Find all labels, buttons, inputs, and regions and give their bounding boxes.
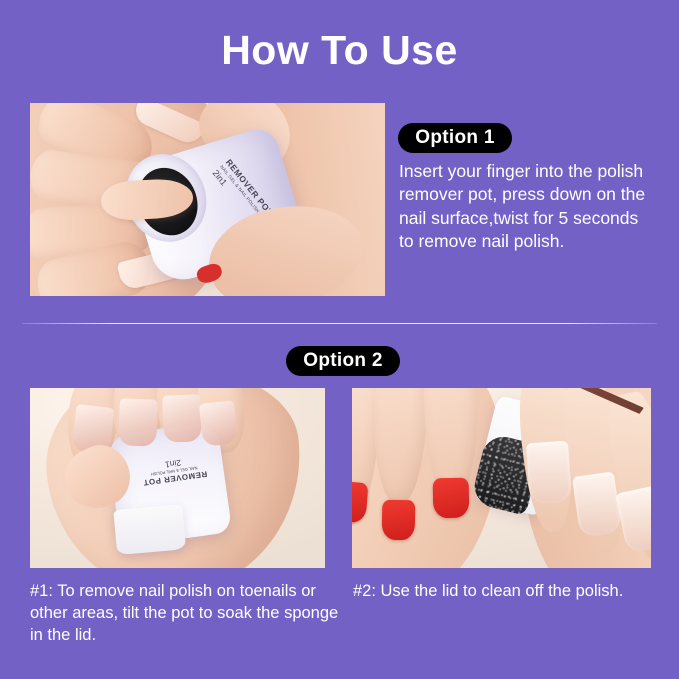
nail — [526, 441, 572, 505]
caption-step-1: #1: To remove nail polish on toenails or… — [30, 580, 340, 646]
nail — [572, 472, 622, 538]
photo-insert-finger: REMOVER POT NAIL GEL & NAIL POLISH 2in1 — [30, 103, 385, 296]
how-to-use-infographic: How To Use REMOVER POT NAIL GEL & NAIL P… — [0, 0, 679, 679]
nail — [162, 395, 202, 443]
nail — [199, 401, 239, 448]
option-1-instructions: Insert your finger into the polish remov… — [399, 160, 654, 253]
photo-clean-with-lid — [352, 388, 651, 568]
section-divider — [22, 323, 657, 324]
photo-bottom-right-scene — [352, 388, 651, 568]
red-painted-nail — [382, 499, 416, 539]
red-painted-nail — [432, 478, 469, 518]
photo-tilt-pot: REMOVER POT NAIL GEL & NAIL POLISH 2in1 — [30, 388, 325, 568]
badge-option-1: Option 1 — [398, 123, 512, 153]
nail — [118, 398, 158, 446]
page-title: How To Use — [0, 28, 679, 73]
caption-step-2: #2: Use the lid to clean off the polish. — [353, 580, 658, 602]
photo-bottom-left-scene: REMOVER POT NAIL GEL & NAIL POLISH 2in1 — [30, 388, 325, 568]
badge-option-2: Option 2 — [286, 346, 400, 376]
photo-top-scene: REMOVER POT NAIL GEL & NAIL POLISH 2in1 — [30, 103, 385, 296]
pot-lid — [112, 504, 185, 555]
